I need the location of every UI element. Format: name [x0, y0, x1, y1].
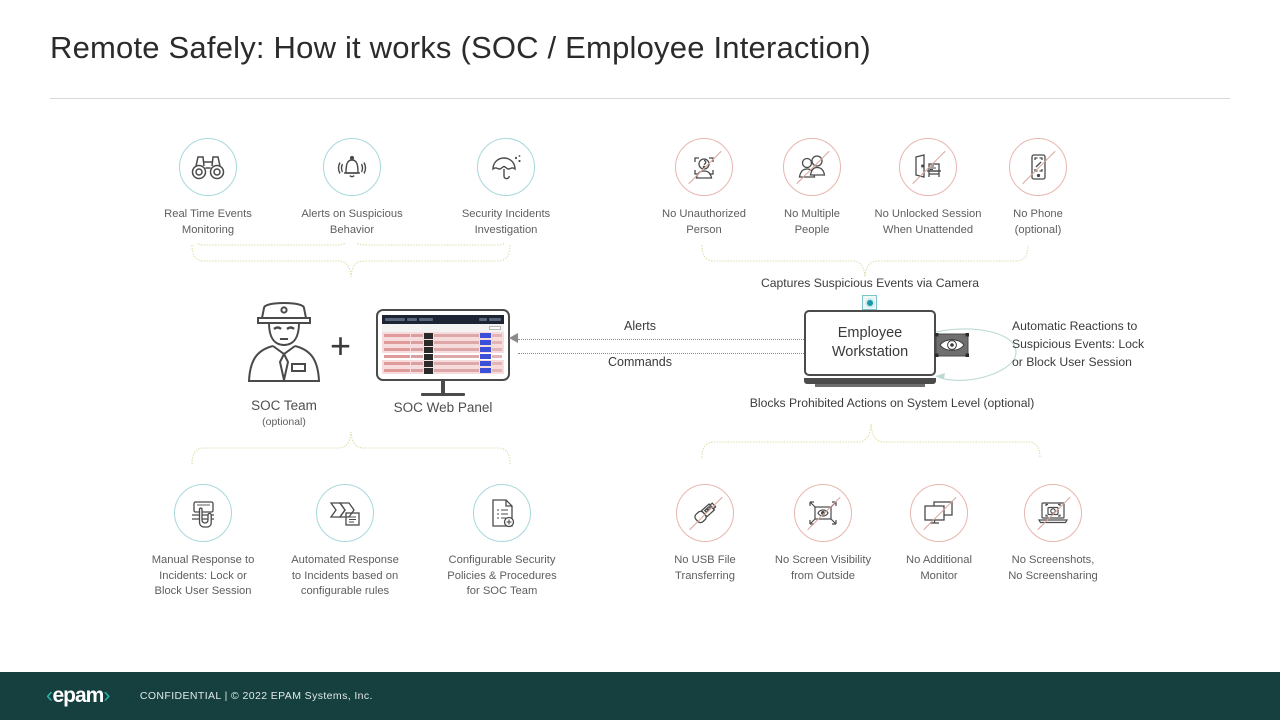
- soc-team-name: SOC Team: [251, 398, 317, 413]
- bell-alert-icon: [323, 138, 381, 196]
- desktop-monitor-icon: [376, 309, 510, 381]
- laptop-icon: Employee Workstation: [804, 310, 936, 376]
- tile-no-multiple-people[interactable]: No Multiple People: [750, 138, 874, 238]
- tile-label: No Unauthorized Person: [642, 207, 766, 238]
- alerts-arrow-label: Alerts: [560, 319, 720, 333]
- tile-label: No USB File Transferring: [643, 553, 767, 584]
- brace-prohibited-bottom: [700, 416, 1044, 460]
- tile-label: No Screen Visibility from Outside: [761, 553, 885, 584]
- title-divider: [50, 98, 1230, 99]
- tile-label: No Phone (optional): [976, 207, 1100, 238]
- tile-no-unauthorized-person[interactable]: No Unauthorized Person: [642, 138, 766, 238]
- commands-arrow-line: [518, 353, 804, 354]
- soc-web-panel-figure[interactable]: [376, 309, 510, 396]
- automation-flow-icon: [316, 484, 374, 542]
- tile-no-phone[interactable]: No Phone (optional): [976, 138, 1100, 238]
- usb-stick-icon: [676, 484, 734, 542]
- monitor-stand-foot: [421, 393, 465, 396]
- tile-label: Configurable Security Policies & Procedu…: [440, 553, 564, 600]
- document-policy-icon: [473, 484, 531, 542]
- footer-confidential-text: CONFIDENTIAL | © 2022 EPAM Systems, Inc.: [140, 690, 373, 702]
- laptop-camera-icon: [1024, 484, 1082, 542]
- screen-eye-icon: [794, 484, 852, 542]
- monitor-screen-content: [382, 315, 504, 375]
- monitor-stand-neck: [441, 381, 445, 393]
- tile-label: Alerts on Suspicious Behavior: [290, 207, 414, 238]
- tile-no-screen-visibility[interactable]: No Screen Visibility from Outside: [761, 484, 885, 584]
- tile-label: No Additional Monitor: [877, 553, 1001, 584]
- tile-alerts-on-suspicious-behavior[interactable]: Alerts on Suspicious Behavior: [290, 138, 414, 238]
- plus-sign: +: [330, 328, 351, 364]
- caption-blocks-prohibited-actions: Blocks Prohibited Actions on System Leve…: [700, 396, 1084, 410]
- caption-captures-suspicious-events: Captures Suspicious Events via Camera: [700, 276, 1040, 290]
- footer-bar: ‹ epam › CONFIDENTIAL | © 2022 EPAM Syst…: [0, 672, 1280, 720]
- brace-soc-bottom: [190, 424, 512, 466]
- commands-arrow-label: Commands: [560, 355, 720, 369]
- tile-label: No Screenshots, No Screensharing: [991, 553, 1115, 584]
- soc-team-optional: (optional): [212, 414, 356, 430]
- brace-soc-top: [190, 243, 512, 283]
- open-door-desk-icon: [899, 138, 957, 196]
- laptop-screen-label: Employee Workstation: [832, 324, 908, 362]
- umbrella-icon: [477, 138, 535, 196]
- logo-chevron-right: ›: [103, 684, 110, 708]
- eye-icon: [934, 332, 970, 357]
- mobile-phone-icon: [1009, 138, 1067, 196]
- multiple-people-icon: [783, 138, 841, 196]
- employee-workstation-figure[interactable]: Employee Workstation: [804, 310, 936, 387]
- tile-label: Manual Response to Incidents: Lock or Bl…: [141, 553, 265, 600]
- laptop-foot: [815, 384, 925, 387]
- face-scan-icon: [675, 138, 733, 196]
- soc-team-figure[interactable]: [222, 296, 346, 393]
- tile-no-usb-file-transferring[interactable]: No USB File Transferring: [643, 484, 767, 584]
- alerts-arrow-line: [518, 339, 804, 340]
- alerts-arrow-head: [509, 333, 518, 343]
- tile-no-screenshots[interactable]: No Screenshots, No Screensharing: [991, 484, 1115, 584]
- security-guard-icon: [240, 296, 328, 388]
- soc-web-panel-label: SOC Web Panel: [366, 400, 520, 415]
- binoculars-icon: [179, 138, 237, 196]
- logo-wordmark: epam: [53, 684, 104, 708]
- tile-label: No Multiple People: [750, 207, 874, 238]
- tile-configurable-security-policies[interactable]: Configurable Security Policies & Procedu…: [440, 484, 564, 600]
- soc-team-label: SOC Team (optional): [212, 398, 356, 430]
- tile-security-incidents-investigation[interactable]: Security Incidents Investigation: [444, 138, 568, 238]
- tile-label: Automated Response to Incidents based on…: [283, 553, 407, 600]
- epam-logo: ‹ epam ›: [46, 684, 110, 708]
- tile-real-time-events-monitoring[interactable]: Real Time Events Monitoring: [146, 138, 270, 238]
- tile-automated-response[interactable]: Automated Response to Incidents based on…: [283, 484, 407, 600]
- page-title: Remote Safely: How it works (SOC / Emplo…: [50, 30, 1230, 66]
- dual-monitor-icon: [910, 484, 968, 542]
- tile-no-additional-monitor[interactable]: No Additional Monitor: [877, 484, 1001, 584]
- caption-automatic-reactions: Automatic Reactions to Suspicious Events…: [1012, 317, 1162, 371]
- tile-no-unlocked-session[interactable]: No Unlocked Session When Unattended: [866, 138, 990, 238]
- tile-manual-response-to-incidents[interactable]: Manual Response to Incidents: Lock or Bl…: [141, 484, 265, 600]
- tile-label: No Unlocked Session When Unattended: [866, 207, 990, 238]
- hand-click-icon: [174, 484, 232, 542]
- webcam-icon: [862, 295, 877, 310]
- tile-label: Real Time Events Monitoring: [146, 207, 270, 238]
- tile-label: Security Incidents Investigation: [444, 207, 568, 238]
